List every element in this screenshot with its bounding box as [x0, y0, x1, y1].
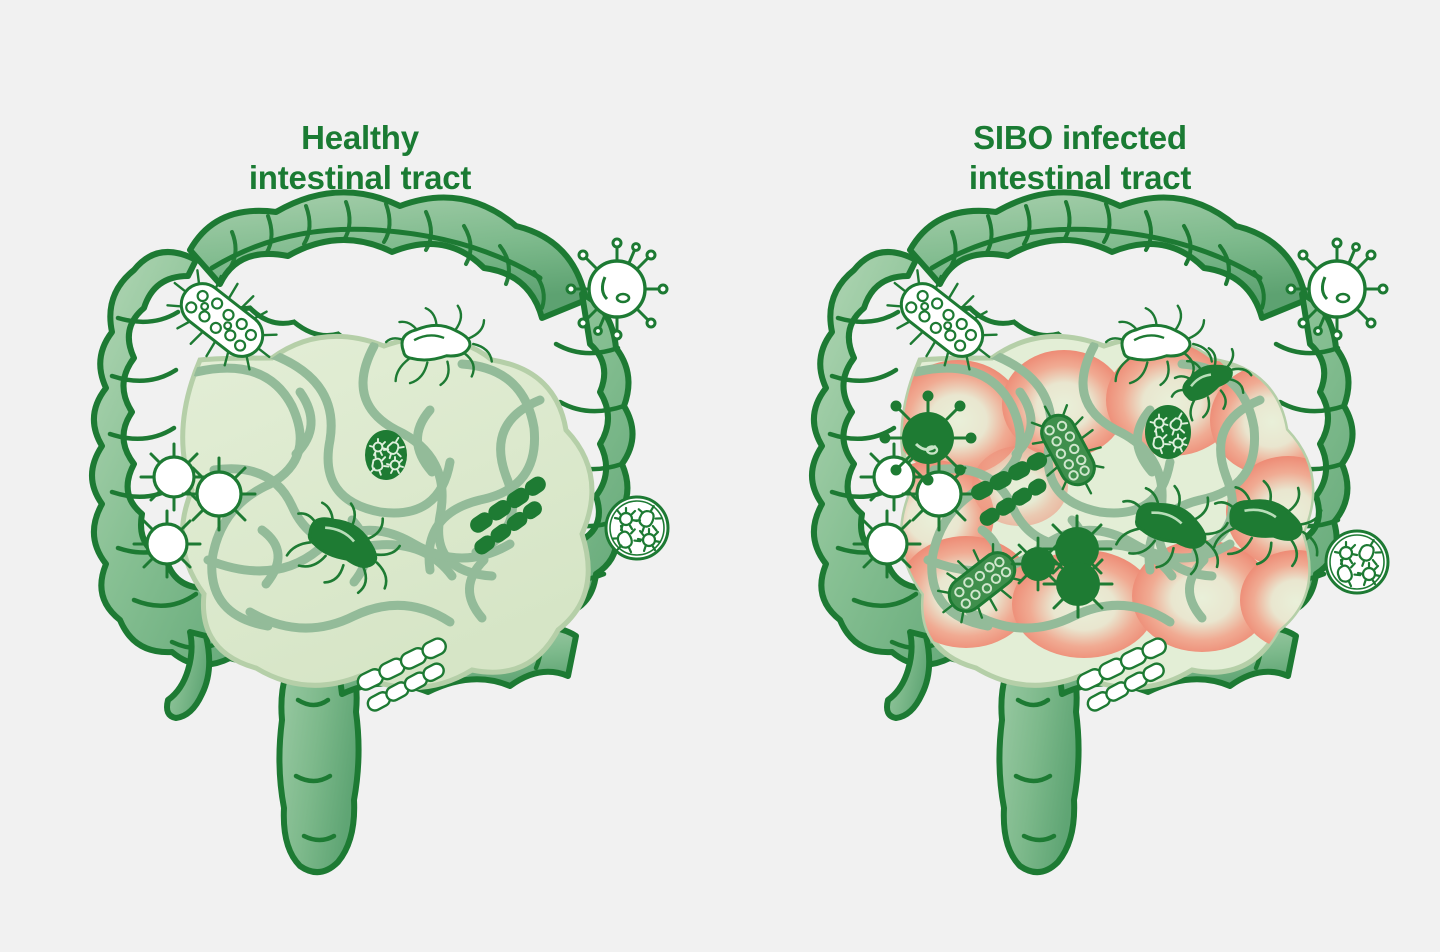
panel-healthy: Healthy intestinal tract — [0, 0, 720, 952]
microbe-virus-spiked-white — [1287, 239, 1387, 339]
sibo-intestinal-tract-illustration — [720, 0, 1440, 952]
panel-sibo: SIBO infected intestinal tract — [720, 0, 1440, 952]
microbe-cocci-single-green — [1012, 538, 1064, 590]
healthy-intestinal-tract-illustration — [0, 0, 720, 952]
microbe-colony-circle-green — [1145, 405, 1191, 459]
microbe-virus-spiked-green — [881, 392, 975, 484]
microbe-colony-circle-green — [365, 430, 407, 480]
microbe-colony-circle-white — [606, 497, 668, 559]
microbe-colony-circle-white — [1326, 531, 1388, 593]
microbe-virus-spiked-white — [567, 239, 667, 339]
illustration-canvas: Healthy intestinal tract — [0, 0, 1440, 952]
